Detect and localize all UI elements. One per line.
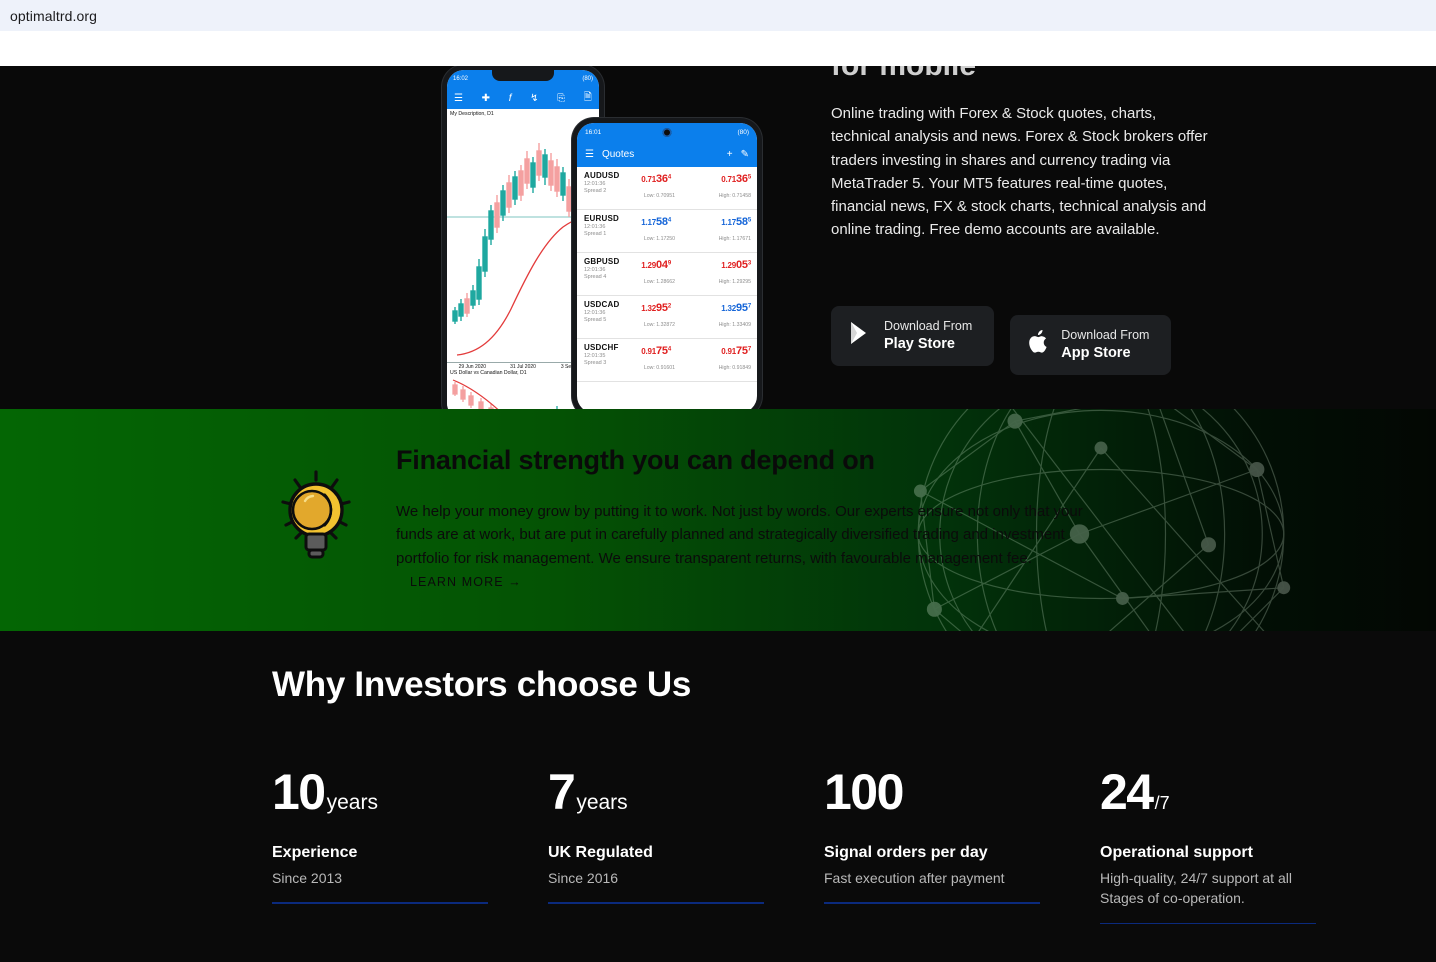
stat-card: 7yearsUK RegulatedSince 2016 [548,767,824,924]
store-buttons-row: Download From Play Store Download From A… [831,306,1171,375]
page-title: Why Investors choose Us [272,665,691,705]
mobile-text-column: for mobile Online trading with Forex & S… [831,66,1211,242]
stat-subtitle: Since 2013 [272,868,487,888]
page-top-white-strip [0,31,1436,66]
why-investors-section: Why Investors choose Us 10yearsExperienc… [0,631,1436,962]
phone-back-battery: (80) [582,76,593,82]
chart-title-2: US Dollar vs Canadian Dollar, D1 [450,370,527,376]
quote-high: High: 0.71458 [719,193,751,199]
stat-title: UK Regulated [548,844,824,862]
phone-back-time: 16:02 [453,76,468,82]
quote-high: High: 1.33409 [719,322,751,328]
app-store-line2: App Store [1061,344,1149,362]
plus-icon[interactable]: + [727,149,733,160]
download-play-store-button[interactable]: Download From Play Store [831,306,994,366]
quote-row[interactable]: USDCHF12:01:35Spread 30.917540.91757Low:… [577,339,757,382]
stat-underline [272,902,488,904]
phone-front-statusbar: 16:01 (80) [577,123,757,142]
quote-ask: 1.32957 [721,302,751,314]
quotes-list[interactable]: AUDUSD12:01:36Spread 20.713640.71365Low:… [577,167,757,382]
financial-strength-heading: Financial strength you can depend on [396,445,1096,476]
stat-suffix: /7 [1155,793,1170,813]
quote-bid: 1.32952 [641,302,671,314]
stat-underline [1100,923,1316,925]
lightbulb-icon [277,468,355,564]
download-app-store-button[interactable]: Download From App Store [1010,315,1171,375]
stat-number: 7years [548,767,824,817]
play-store-labels: Download From Play Store [884,319,972,353]
windows-icon[interactable]: ⎘ [557,93,565,104]
quote-ask: 1.29053 [721,259,751,271]
quote-bid: 1.17584 [641,216,671,228]
hamburger-icon[interactable]: ☰ [585,149,594,160]
quote-low: Low: 1.32872 [644,322,675,328]
quote-row[interactable]: AUDUSD12:01:36Spread 20.713640.71365Low:… [577,167,757,210]
quote-low: Low: 0.91601 [644,365,675,371]
edit-pencil-icon[interactable]: ✎ [741,149,749,160]
quote-low: Low: 1.28662 [644,279,675,285]
url-text[interactable]: optimaltrd.org [10,8,97,24]
camera-punchhole-icon [663,128,672,137]
quote-row[interactable]: EURUSD12:01:36Spread 11.175841.17585Low:… [577,210,757,253]
stat-underline [824,902,1040,904]
stat-number: 10years [272,767,548,817]
quote-ask: 0.71365 [721,173,751,185]
function-icon[interactable]: f [509,93,512,104]
stat-title: Signal orders per day [824,844,1100,862]
crosshair-icon[interactable]: ✚ [482,93,490,104]
play-store-line2: Play Store [884,335,972,353]
phone-front-time: 16:01 [585,129,601,136]
stat-number: 24/7 [1100,767,1376,817]
quote-row[interactable]: GBPUSD12:01:36Spread 41.290491.29053Low:… [577,253,757,296]
quote-bid: 0.71364 [641,173,671,185]
quote-low: Low: 1.17250 [644,236,675,242]
stats-grid: 10yearsExperienceSince 20137yearsUK Regu… [272,767,1376,924]
app-store-line1: Download From [1061,328,1149,344]
document-icon[interactable]: 🗎 [584,90,592,107]
phone-mockups: 16:02 (80) ☰ ✚ f ↯ ⎘ 🗎 My Description, D… [440,66,770,409]
stat-card: 100Signal orders per dayFast execution a… [824,767,1100,924]
play-store-icon [849,321,871,350]
quote-high: High: 1.17671 [719,236,751,242]
quote-ask: 1.17585 [721,216,751,228]
indicators-icon[interactable]: ↯ [530,93,538,104]
phone-back-toolbar[interactable]: ☰ ✚ f ↯ ⎘ 🗎 [447,87,599,109]
stat-underline [548,902,764,904]
stat-number: 100 [824,767,1100,817]
phone-notch [492,70,554,81]
mobile-paragraph: Online trading with Forex & Stock quotes… [831,102,1211,242]
financial-strength-section: Financial strength you can depend on We … [0,409,1436,631]
stat-subtitle: High-quality, 24/7 support at all Stages… [1100,868,1315,909]
app-store-labels: Download From App Store [1061,328,1149,362]
stat-subtitle: Since 2016 [548,868,763,888]
stat-card: 24/7Operational supportHigh-quality, 24/… [1100,767,1376,924]
apple-icon [1028,330,1048,359]
stat-suffix: years [576,791,627,814]
stat-title: Experience [272,844,548,862]
financial-strength-body: We help your money grow by putting it to… [396,503,1083,567]
phone-front-battery: (80) [737,129,749,136]
quotes-appbar: ☰ Quotes + ✎ [577,142,757,167]
play-store-line1: Download From [884,319,972,335]
quote-high: High: 1.29295 [719,279,751,285]
mobile-heading: for mobile [831,66,1211,80]
stat-title: Operational support [1100,844,1376,862]
quotes-title: Quotes [602,149,634,160]
quote-bid: 1.29049 [641,259,671,271]
phone-quotes-mockup: 16:01 (80) ☰ Quotes + ✎ AUDUSD12:01:36Sp… [572,118,762,409]
mobile-app-section: 16:02 (80) ☰ ✚ f ↯ ⎘ 🗎 My Description, D… [0,66,1436,409]
quote-low: Low: 0.70951 [644,193,675,199]
stat-card: 10yearsExperienceSince 2013 [272,767,548,924]
browser-url-bar[interactable]: optimaltrd.org [0,0,1436,31]
quote-high: High: 0.91849 [719,365,751,371]
quote-row[interactable]: USDCAD12:01:36Spread 51.329521.32957Low:… [577,296,757,339]
learn-more-link[interactable]: LEARN MORE → [410,575,522,589]
stat-suffix: years [327,791,378,814]
chart-title: My Description, D1 [450,111,494,117]
green-text-column: Financial strength you can depend on We … [396,445,1096,593]
financial-strength-paragraph: We help your money grow by putting it to… [396,500,1086,593]
stat-subtitle: Fast execution after payment [824,868,1039,888]
phone-back-statusbar: 16:02 (80) [447,70,599,87]
quote-bid: 0.91754 [641,345,671,357]
menu-icon[interactable]: ☰ [454,93,463,104]
quote-ask: 0.91757 [721,345,751,357]
